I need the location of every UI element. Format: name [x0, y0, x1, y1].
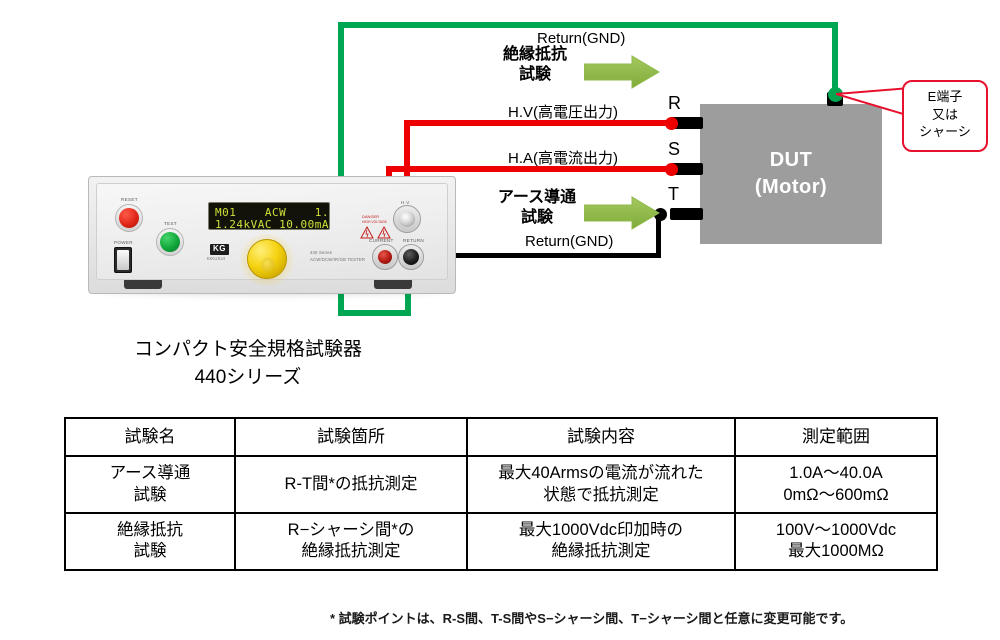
brand-sublabel: KIKUSUI [207, 256, 225, 261]
dut-label-line2: (Motor) [755, 174, 827, 201]
return-jack-label: RETURN [403, 238, 424, 243]
power-switch-rocker[interactable] [117, 250, 129, 270]
label-insulation-test-line2: 試験 [487, 65, 583, 85]
table-footnote: * 試験ポイントは、R-S間、T-S間やS−シャーシ間、T−シャーシ間と任意に変… [330, 608, 853, 627]
dut-label-line1: DUT [770, 147, 813, 174]
table-header-test-range: 測定範囲 [735, 418, 937, 456]
label-insulation-test-line1: 絶縁抵抗 [487, 45, 583, 65]
wire-green-top-horizontal [338, 22, 838, 28]
dut-terminal-t-bar [670, 208, 703, 220]
callout-line2: 又は [912, 106, 978, 124]
cell-line2: 最大1000MΩ [740, 541, 932, 562]
dut-terminal-t-label: T [668, 184, 679, 205]
svg-text:HIGH VOLTAGE: HIGH VOLTAGE [362, 220, 388, 224]
table-row: 絶縁抵抗 試験 R−シャーシ間*の 絶縁抵抗測定 最大1000Vdc印加時の 絶… [65, 513, 937, 570]
callout-box: E端子 又は シャーシ [902, 80, 988, 152]
caption-line2: 440シリーズ [78, 364, 418, 392]
model-sub-text: ACW/DCW/IR/GB TESTER [310, 257, 365, 262]
table-cell-range-insulation: 100V〜1000Vdc 最大1000MΩ [735, 513, 937, 570]
wire-green-dut-drop [832, 22, 838, 95]
return-jack[interactable] [403, 249, 419, 265]
table-cell-point-insulation: R−シャーシ間*の 絶縁抵抗測定 [235, 513, 467, 570]
current-jack[interactable] [378, 250, 392, 264]
safety-tester-instrument: RESET TEST POWER M01 ACW 1.0s 1.24kVAC 1… [88, 176, 456, 294]
table-row: アース導通 試験 R-T間*の抵抗測定 最大40Armsの電流が流れた 状態で抵… [65, 456, 937, 513]
cell-line2: 試験 [70, 485, 230, 506]
table-header-test-name: 試験名 [65, 418, 235, 456]
label-return-gnd-bottom: Return(GND) [525, 233, 613, 250]
display-line2: 1.24kVAC 10.00mA [215, 218, 329, 230]
cell-line2: 絶縁抵抗測定 [240, 541, 462, 562]
table-header-test-point: 試験箇所 [235, 418, 467, 456]
table-header-row: 試験名 試験箇所 試験内容 測定範囲 [65, 418, 937, 456]
brand-logo: KG [210, 244, 229, 255]
power-switch-label: POWER [114, 240, 133, 245]
dut-terminal-r-dot [665, 117, 678, 130]
callout-line3: シャーシ [912, 123, 978, 141]
table-cell-name-insulation: 絶縁抵抗 試験 [65, 513, 235, 570]
table-header-test-content: 試験内容 [467, 418, 735, 456]
label-ground-bond-test-line2: 試験 [482, 208, 592, 228]
table-cell-point-ground-bond: R-T間*の抵抗測定 [235, 456, 467, 513]
cell-line1: 100V〜1000Vdc [740, 520, 932, 541]
dut-terminal-s-label: S [668, 139, 680, 160]
cell-line2: 状態で抵抗測定 [472, 485, 730, 506]
cell-line2: 0mΩ〜600mΩ [740, 485, 932, 506]
label-ground-bond-test: アース導通 試験 [482, 188, 592, 228]
cell-line1: 最大40Armsの電流が流れた [472, 463, 730, 484]
dut-terminal-r-label: R [668, 93, 681, 114]
cell-line1: 絶縁抵抗 [70, 520, 230, 541]
hv-jack[interactable] [399, 211, 415, 227]
arrow-insulation-test-icon [584, 55, 660, 89]
arrow-ground-bond-test-icon [584, 196, 660, 230]
test-button[interactable] [160, 232, 180, 252]
label-insulation-test: 絶縁抵抗 試験 [487, 45, 583, 85]
table-cell-content-insulation: 最大1000Vdc印加時の 絶縁抵抗測定 [467, 513, 735, 570]
spec-table: 試験名 試験箇所 試験内容 測定範囲 アース導通 試験 R-T間*の抵抗測定 最… [64, 417, 938, 571]
instrument-foot-right [374, 280, 412, 289]
caption-line1: コンパクト安全規格試験器 [78, 336, 418, 364]
table-cell-range-ground-bond: 1.0A〜40.0A 0mΩ〜600mΩ [735, 456, 937, 513]
label-ha-output: H.A(高電流出力) [508, 147, 618, 168]
cell-line1: R−シャーシ間*の [240, 520, 462, 541]
table-cell-content-ground-bond: 最大40Armsの電流が流れた 状態で抵抗測定 [467, 456, 735, 513]
current-jack-label: CURRENT [369, 238, 394, 243]
rotary-knob-dimple [261, 258, 275, 272]
test-button-label: TEST [164, 221, 177, 226]
reset-button-label: RESET [121, 197, 138, 202]
instrument-foot-left [124, 280, 162, 289]
label-hv-output: H.V(高電圧出力) [508, 101, 618, 122]
reset-button[interactable] [119, 208, 139, 228]
cell-line1: アース導通 [70, 463, 230, 484]
cell-line2: 試験 [70, 541, 230, 562]
instrument-display: M01 ACW 1.0s 1.24kVAC 10.00mA [208, 202, 330, 230]
svg-text:DANGER: DANGER [362, 214, 379, 219]
label-ground-bond-test-line1: アース導通 [482, 188, 592, 208]
cell-line1: 最大1000Vdc印加時の [472, 520, 730, 541]
cell-line2: 絶縁抵抗測定 [472, 541, 730, 562]
wire-green-bottom-horizontal [338, 310, 411, 316]
model-name-text: 440 Series [310, 250, 332, 255]
table-cell-name-ground-bond: アース導通 試験 [65, 456, 235, 513]
callout-line1: E端子 [912, 88, 978, 106]
instrument-caption: コンパクト安全規格試験器 440シリーズ [78, 336, 418, 391]
diagram-canvas: DUT (Motor) R S T E端子 又は シャーシ Return(GND… [0, 0, 1000, 640]
dut-terminal-s-dot [665, 163, 678, 176]
cell-line1: 1.0A〜40.0A [740, 463, 932, 484]
